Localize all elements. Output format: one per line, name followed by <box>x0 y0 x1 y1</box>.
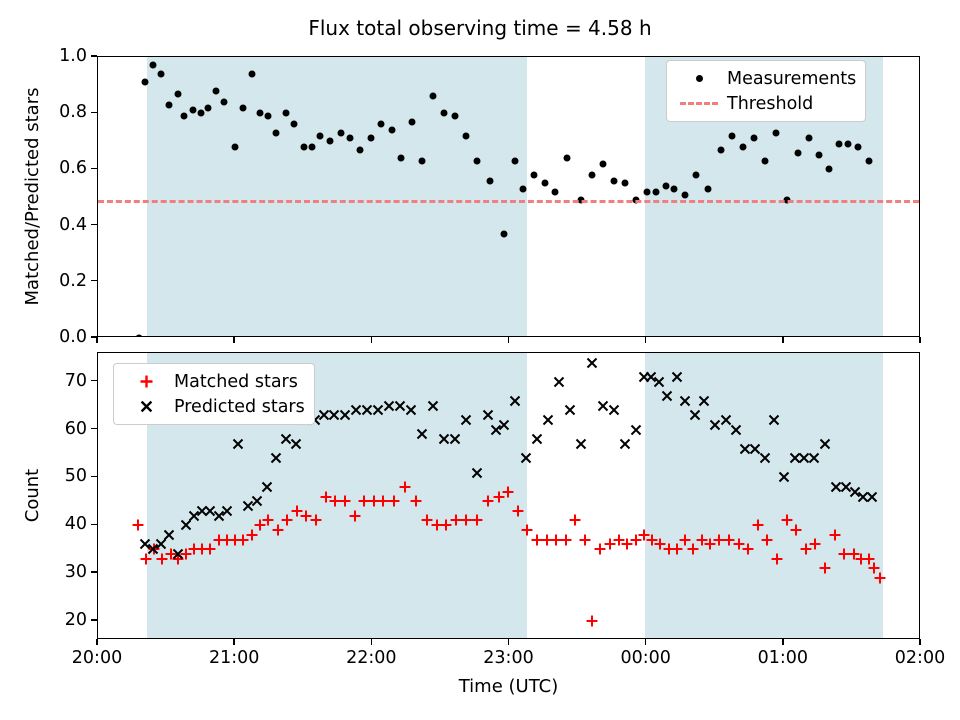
y-tick-label: 30 <box>10 562 87 582</box>
data-point-matched <box>470 514 483 527</box>
x-tick-label: 23:00 <box>459 648 559 668</box>
data-point-measurement <box>197 110 204 117</box>
data-point-measurement <box>273 129 280 136</box>
data-point-predicted <box>585 356 598 369</box>
x-tick-mark <box>919 337 920 343</box>
data-point-measurement <box>501 231 508 238</box>
data-point-predicted <box>679 394 692 407</box>
bottom-panel-y-axis-label: Count <box>22 352 43 639</box>
y-tick-mark <box>91 571 97 572</box>
y-tick-label: 20 <box>10 610 87 630</box>
data-point-measurement <box>326 138 333 145</box>
y-tick-label: 0.2 <box>10 271 87 291</box>
data-point-measurement <box>166 101 173 108</box>
data-point-measurement <box>317 132 324 139</box>
data-point-matched <box>388 495 401 508</box>
data-point-measurement <box>717 146 724 153</box>
data-point-measurement <box>705 186 712 193</box>
y-tick-mark <box>91 224 97 225</box>
data-point-measurement <box>739 143 746 150</box>
data-point-measurement <box>141 79 148 86</box>
y-tick-label: 70 <box>10 371 87 391</box>
data-point-measurement <box>621 180 628 187</box>
legend-label-matched: Matched stars <box>169 372 298 392</box>
data-point-matched <box>818 562 831 575</box>
data-point-matched <box>310 514 323 527</box>
data-point-measurement <box>610 177 617 184</box>
y-tick-label: 0.4 <box>10 215 87 235</box>
data-point-predicted <box>260 480 273 493</box>
y-tick-mark <box>91 428 97 429</box>
data-point-measurement <box>865 157 872 164</box>
data-point-predicted <box>768 413 781 426</box>
data-point-measurement <box>136 335 143 338</box>
data-point-measurement <box>643 188 650 195</box>
data-point-measurement <box>835 141 842 148</box>
x-tick-label: 00:00 <box>596 648 696 668</box>
data-point-predicted <box>448 433 461 446</box>
x-tick-label: 02:00 <box>870 648 960 668</box>
data-point-measurement <box>282 110 289 117</box>
data-point-predicted <box>426 399 439 412</box>
threshold-line <box>98 200 919 203</box>
data-point-measurement <box>511 157 518 164</box>
data-point-matched <box>828 528 841 541</box>
data-point-measurement <box>204 104 211 111</box>
data-point-measurement <box>805 135 812 142</box>
data-point-matched <box>559 533 572 546</box>
data-point-measurement <box>682 191 689 198</box>
x-tick-mark <box>233 337 234 343</box>
data-point-predicted <box>818 437 831 450</box>
y-tick-label: 0.8 <box>10 102 87 122</box>
data-point-predicted <box>404 404 417 417</box>
legend-entry-predicted: Predicted stars <box>123 394 305 419</box>
chart-root: Flux total observing time = 4.58 h Match… <box>0 0 960 720</box>
data-point-predicted <box>541 413 554 426</box>
data-point-predicted <box>481 409 494 422</box>
data-point-measurement <box>826 166 833 173</box>
x-tick-mark <box>508 337 509 343</box>
y-tick-label: 0.6 <box>10 158 87 178</box>
data-point-measurement <box>462 132 469 139</box>
data-point-measurement <box>761 157 768 164</box>
data-point-predicted <box>508 394 521 407</box>
data-point-measurement <box>388 127 395 134</box>
data-point-predicted <box>574 437 587 450</box>
legend-label-threshold: Threshold <box>722 94 813 114</box>
data-point-predicted <box>231 437 244 450</box>
data-point-measurement <box>542 180 549 187</box>
data-point-measurement <box>772 129 779 136</box>
data-point-matched <box>873 571 886 584</box>
data-point-matched <box>502 485 515 498</box>
data-point-matched <box>585 614 598 627</box>
data-point-measurement <box>240 104 247 111</box>
data-point-matched <box>348 509 361 522</box>
top-panel-y-axis-label: Matched/Predicted stars <box>22 56 43 337</box>
data-point-predicted <box>607 404 620 417</box>
data-point-predicted <box>415 428 428 441</box>
data-point-measurement <box>794 149 801 156</box>
x-tick-mark <box>371 337 372 343</box>
y-tick-mark <box>91 619 97 620</box>
data-point-measurement <box>409 118 416 125</box>
data-point-predicted <box>618 437 631 450</box>
data-point-predicted <box>808 452 821 465</box>
y-tick-label: 50 <box>10 466 87 486</box>
x-tick-label: 21:00 <box>184 648 284 668</box>
y-tick-mark <box>91 280 97 281</box>
matched-plus-icon <box>123 374 169 389</box>
y-tick-mark <box>91 380 97 381</box>
data-point-measurement <box>149 62 156 69</box>
data-point-measurement <box>531 172 538 179</box>
legend-label-measurements: Measurements <box>722 69 856 89</box>
y-tick-mark <box>91 168 97 169</box>
data-point-measurement <box>158 70 165 77</box>
y-tick-label: 40 <box>10 514 87 534</box>
y-tick-label: 1.0 <box>10 46 87 66</box>
data-point-predicted <box>220 504 233 517</box>
chart-title: Flux total observing time = 4.58 h <box>0 16 960 40</box>
threshold-dash-icon <box>676 102 722 105</box>
data-point-measurement <box>693 172 700 179</box>
x-tick-mark <box>782 337 783 343</box>
data-point-predicted <box>653 375 666 388</box>
x-tick-label: 01:00 <box>733 648 833 668</box>
data-point-predicted <box>498 418 511 431</box>
x-tick-label: 22:00 <box>321 648 421 668</box>
y-tick-mark <box>91 55 97 56</box>
y-tick-mark <box>91 524 97 525</box>
data-point-measurement <box>248 70 255 77</box>
data-point-predicted <box>777 471 790 484</box>
data-point-measurement <box>265 113 272 120</box>
y-tick-mark <box>91 476 97 477</box>
data-point-measurement <box>588 172 595 179</box>
data-point-measurement <box>653 188 660 195</box>
data-point-matched <box>338 495 351 508</box>
data-point-measurement <box>308 143 315 150</box>
data-point-measurement <box>520 186 527 193</box>
data-point-measurement <box>291 121 298 128</box>
data-point-matched <box>410 495 423 508</box>
predicted-cross-icon <box>123 399 169 414</box>
data-point-matched <box>399 480 412 493</box>
legend-entry-matched: Matched stars <box>123 369 305 394</box>
legend-entry-measurements: Measurements <box>676 66 856 91</box>
data-point-measurement <box>473 157 480 164</box>
data-point-measurement <box>854 143 861 150</box>
x-tick-mark <box>233 639 234 645</box>
data-point-matched <box>742 543 755 556</box>
data-point-matched <box>131 519 144 532</box>
data-point-measurement <box>377 121 384 128</box>
data-point-measurement <box>750 135 757 142</box>
x-tick-mark <box>371 639 372 645</box>
data-point-measurement <box>671 186 678 193</box>
data-point-measurement <box>189 107 196 114</box>
data-point-measurement <box>662 183 669 190</box>
data-point-predicted <box>758 452 771 465</box>
data-point-matched <box>761 533 774 546</box>
data-point-measurement <box>451 113 458 120</box>
data-point-measurement <box>256 110 263 117</box>
x-tick-mark <box>782 639 783 645</box>
data-point-measurement <box>347 135 354 142</box>
data-point-predicted <box>729 423 742 436</box>
data-point-predicted <box>519 452 532 465</box>
data-point-predicted <box>661 390 674 403</box>
data-point-predicted <box>289 437 302 450</box>
data-point-measurement <box>300 143 307 150</box>
x-tick-mark <box>645 639 646 645</box>
x-tick-mark <box>508 639 509 645</box>
data-point-measurement <box>599 160 606 167</box>
y-tick-mark <box>91 112 97 113</box>
data-point-measurement <box>418 157 425 164</box>
x-tick-mark <box>96 337 97 343</box>
data-point-measurement <box>398 155 405 162</box>
data-point-measurement <box>367 135 374 142</box>
data-point-measurement <box>564 155 571 162</box>
data-point-measurement <box>232 143 239 150</box>
shaded-band <box>147 57 527 336</box>
data-point-predicted <box>163 528 176 541</box>
data-point-measurement <box>221 98 228 105</box>
data-point-matched <box>569 514 582 527</box>
data-point-measurement <box>356 146 363 153</box>
data-point-measurement <box>816 152 823 159</box>
data-point-measurement <box>337 129 344 136</box>
x-tick-label: 20:00 <box>47 648 147 668</box>
data-point-predicted <box>459 413 472 426</box>
data-point-predicted <box>530 433 543 446</box>
data-point-predicted <box>563 404 576 417</box>
data-point-measurement <box>440 110 447 117</box>
data-point-measurement <box>551 188 558 195</box>
legend-entry-threshold: Threshold <box>676 91 856 116</box>
data-point-measurement <box>174 90 181 97</box>
x-tick-mark <box>919 639 920 645</box>
x-tick-mark <box>96 639 97 645</box>
data-point-predicted <box>698 394 711 407</box>
top-panel-legend: Measurements Threshold <box>666 60 866 122</box>
bottom-panel-legend: Matched stars Predicted stars <box>113 363 315 425</box>
measurements-dot-icon <box>676 75 722 82</box>
data-point-measurement <box>429 93 436 100</box>
data-point-matched <box>770 552 783 565</box>
data-point-measurement <box>487 177 494 184</box>
data-point-matched <box>790 523 803 536</box>
data-point-measurement <box>728 132 735 139</box>
data-point-predicted <box>171 547 184 560</box>
data-point-matched <box>809 538 822 551</box>
data-point-measurement <box>181 113 188 120</box>
data-point-predicted <box>270 452 283 465</box>
data-point-predicted <box>629 423 642 436</box>
x-tick-mark <box>645 337 646 343</box>
data-point-matched <box>578 533 591 546</box>
data-point-predicted <box>865 490 878 503</box>
data-point-measurement <box>845 141 852 148</box>
legend-label-predicted: Predicted stars <box>169 397 305 417</box>
data-point-predicted <box>470 466 483 479</box>
y-tick-label: 60 <box>10 419 87 439</box>
data-point-predicted <box>670 370 683 383</box>
data-point-matched <box>751 519 764 532</box>
data-point-predicted <box>251 495 264 508</box>
y-tick-label: 0.0 <box>10 327 87 347</box>
x-axis-label: Time (UTC) <box>97 676 920 697</box>
data-point-matched <box>511 504 524 517</box>
data-point-measurement <box>212 87 219 94</box>
data-point-predicted <box>688 409 701 422</box>
data-point-predicted <box>552 375 565 388</box>
